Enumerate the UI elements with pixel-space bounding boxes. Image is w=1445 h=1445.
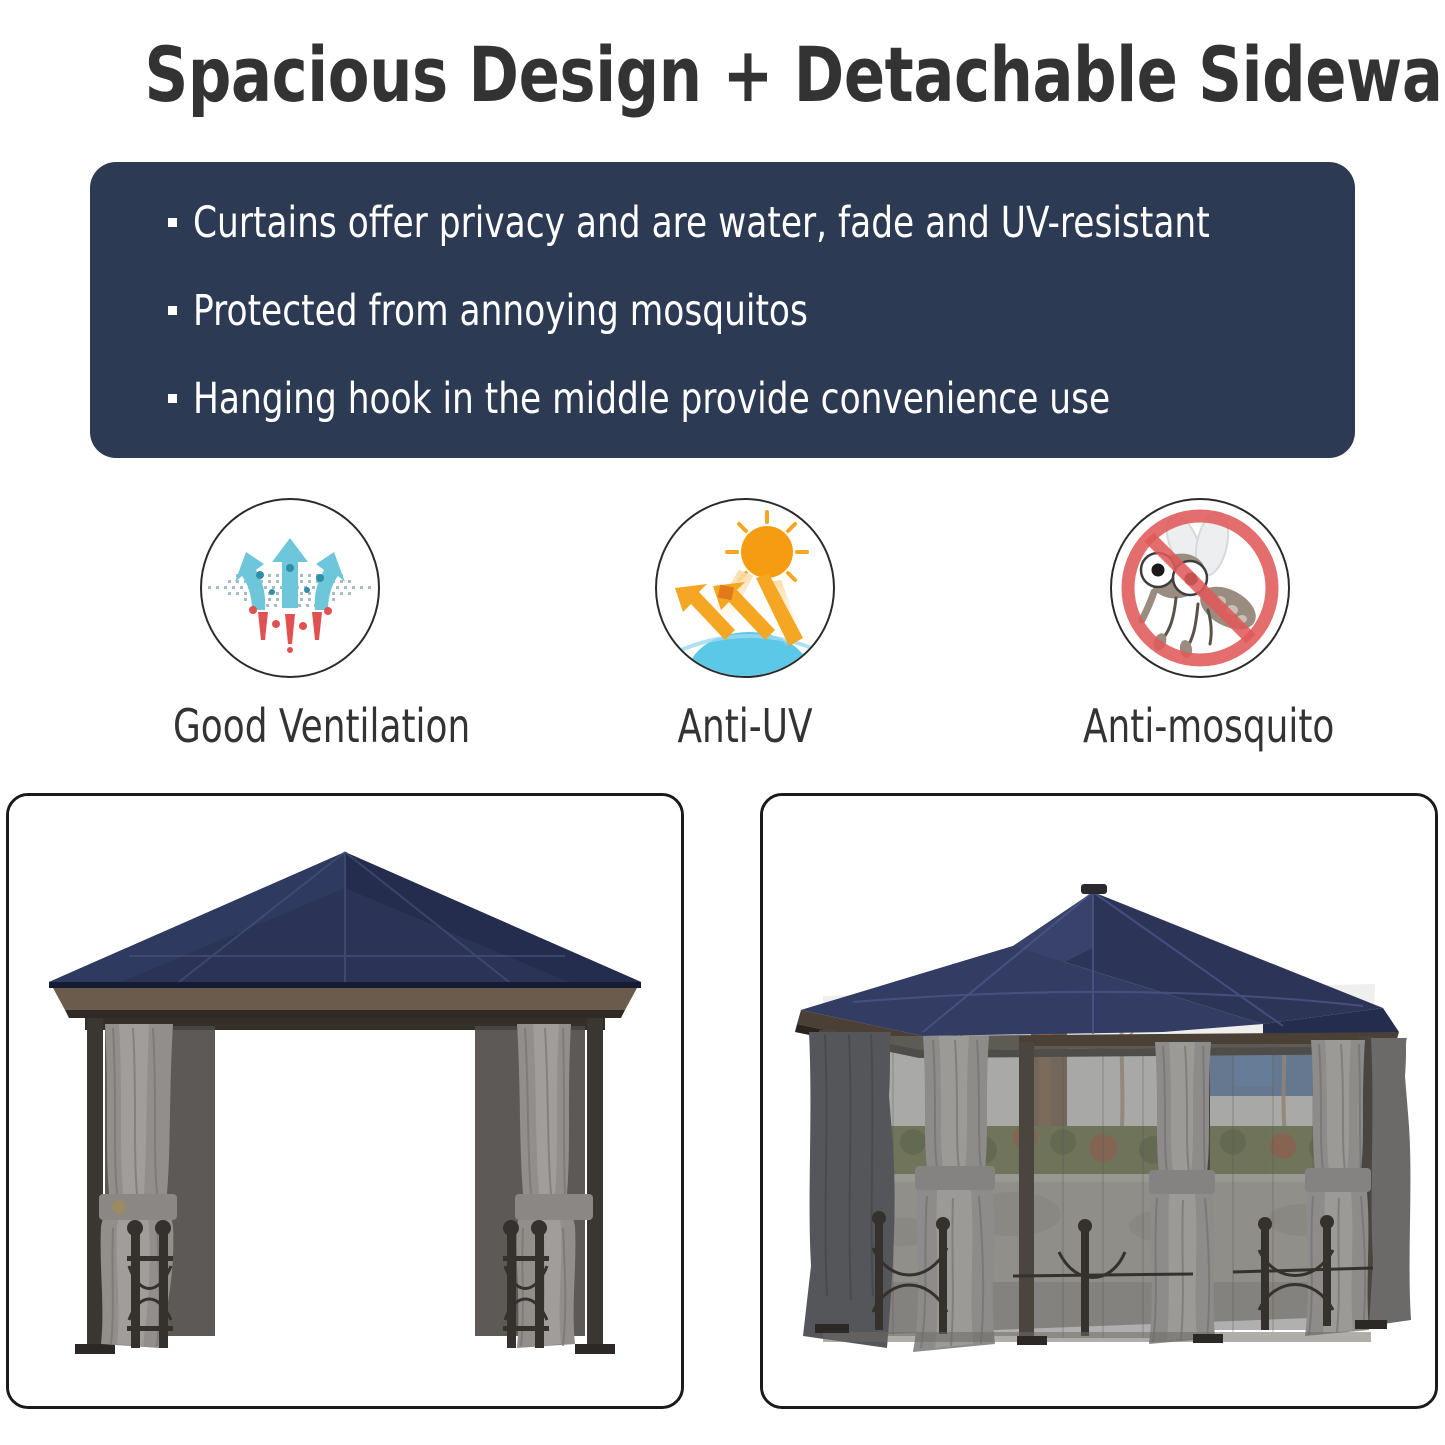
feature-good-ventilation: Good Ventilation (140, 498, 440, 752)
bullet-square-icon (168, 306, 177, 315)
ventilation-airflow-icon (200, 498, 380, 678)
feature-caption: Anti-UV (628, 700, 862, 752)
bullet-square-icon (168, 218, 177, 227)
feature-anti-uv: Anti-UV (595, 498, 895, 752)
product-photo-front-view (6, 793, 684, 1409)
feature-bullet-panel: Curtains offer privacy and are water, fa… (90, 162, 1355, 458)
feature-anti-mosquito: Anti-mosquito (1050, 498, 1350, 752)
bullet-text: Protected from annoying mosquitos (193, 288, 808, 334)
anti-mosquito-icon (1110, 498, 1290, 678)
bullet-text: Hanging hook in the middle provide conve… (193, 376, 1110, 422)
bullet-square-icon (168, 394, 177, 403)
bullet-text: Curtains offer privacy and are water, fa… (193, 200, 1210, 246)
feature-caption: Anti-mosquito (1083, 700, 1317, 752)
bullet-item: Hanging hook in the middle provide conve… (168, 376, 1355, 464)
page-title: Spacious Design + Detachable Sidewall (145, 26, 1301, 124)
product-photo-angled-outdoor (760, 793, 1438, 1409)
feature-icon-row: Good Ventilation (0, 498, 1445, 760)
feature-caption: Good Ventilation (173, 700, 407, 752)
bullet-item: Curtains offer privacy and are water, fa… (168, 200, 1355, 288)
bullet-item: Protected from annoying mosquitos (168, 288, 1355, 376)
anti-uv-sun-icon (655, 498, 835, 678)
